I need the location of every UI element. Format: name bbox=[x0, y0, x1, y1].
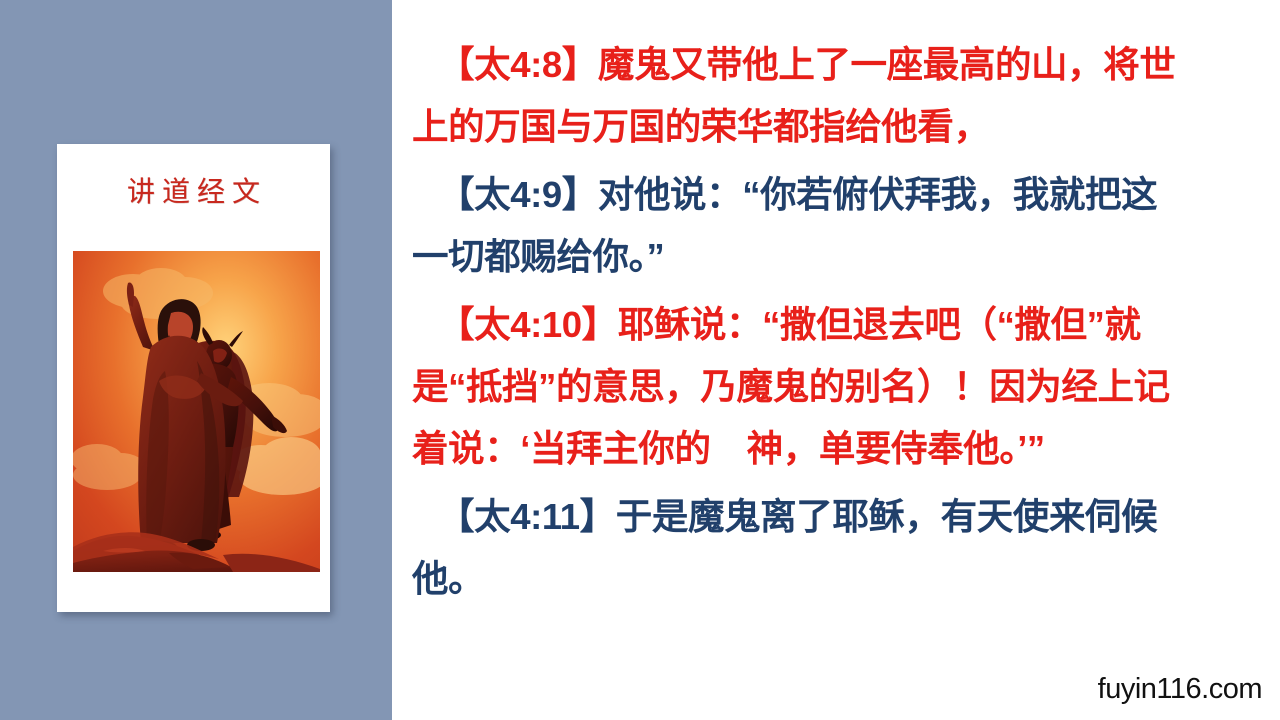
illustration-svg bbox=[73, 251, 320, 572]
scripture-text-column: 【太4:8】魔鬼又带他上了一座最高的山，将世上的万国与万国的荣华都指给他看， 【… bbox=[412, 34, 1212, 674]
scripture-card: 讲道经文 bbox=[57, 144, 330, 612]
verse-mt-4-11: 【太4:11】于是魔鬼离了耶稣，有天使来伺候他。 bbox=[412, 486, 1168, 610]
verse-mt-4-10: 【太4:10】耶稣说：“撒但退去吧（“撒但”就是“抵挡”的意思，乃魔鬼的别名）！… bbox=[412, 294, 1172, 480]
verse-mt-4-8: 【太4:8】魔鬼又带他上了一座最高的山，将世上的万国与万国的荣华都指给他看， bbox=[412, 34, 1196, 158]
card-title: 讲道经文 bbox=[57, 170, 330, 210]
slide-root: 讲道经文 bbox=[0, 0, 1280, 720]
site-watermark: fuyin116.com bbox=[1098, 673, 1262, 706]
jesus-and-devil-illustration bbox=[73, 251, 320, 572]
verse-mt-4-9: 【太4:9】对他说：“你若俯伏拜我，我就把这一切都赐给你。” bbox=[412, 164, 1168, 288]
